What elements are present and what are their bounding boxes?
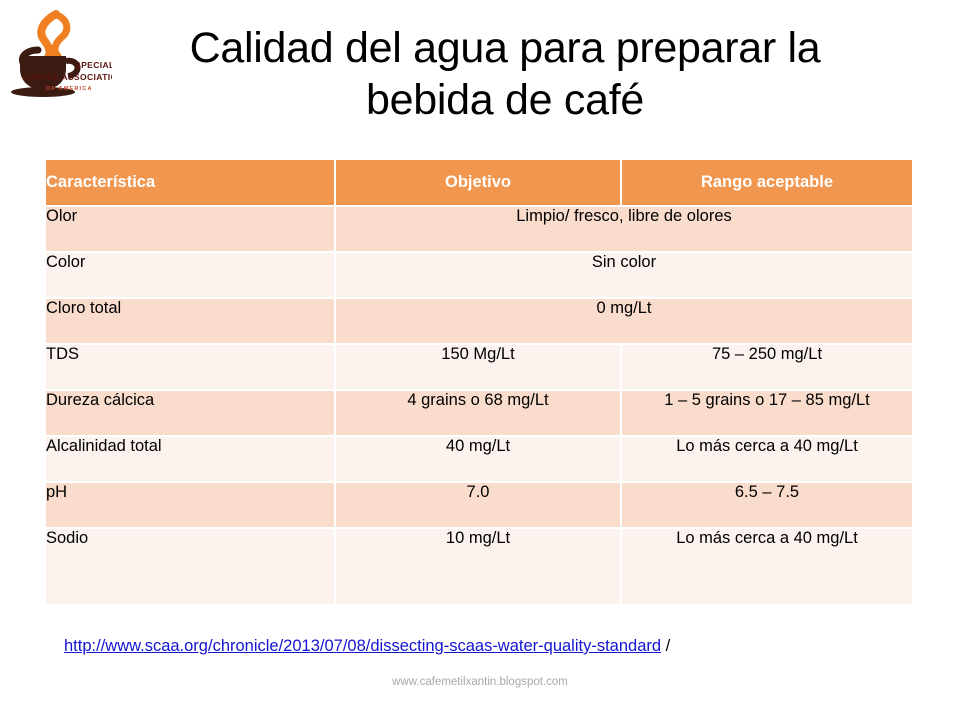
cell-valor-merged: Limpio/ fresco, libre de olores [336,207,912,253]
table-row: Alcalinidad total 40 mg/Lt Lo más cerca … [46,437,912,483]
cell-rango: Lo más cerca a 40 mg/Lt [622,529,912,606]
cell-objetivo: 10 mg/Lt [336,529,622,606]
page-title-line-2: bebida de café [110,74,900,126]
table-row: Cloro total 0 mg/Lt [46,299,912,345]
cell-rango: 1 – 5 grains o 17 – 85 mg/Lt [622,391,912,437]
source-line: http://www.scaa.org/chronicle/2013/07/08… [64,637,944,656]
table-row: pH 7.0 6.5 – 7.5 [46,483,912,529]
scaa-logo: SPECIALTY COFFEE ASSOCIATION OF AMERICA [8,6,112,106]
cell-valor-merged: Sin color [336,253,912,299]
cell-objetivo: 150 Mg/Lt [336,345,622,391]
cell-rango: Lo más cerca a 40 mg/Lt [622,437,912,483]
source-trailing-slash: / [661,637,670,655]
table-row: Sodio 10 mg/Lt Lo más cerca a 40 mg/Lt [46,529,912,606]
table-header-row: Característica Objetivo Rango aceptable [46,160,912,207]
column-header-objetivo: Objetivo [336,160,622,207]
cell-caracteristica: Sodio [46,529,336,606]
logo-text-association: COFFEE ASSOCIATION [22,72,112,82]
cell-objetivo: 7.0 [336,483,622,529]
cell-caracteristica: TDS [46,345,336,391]
cell-objetivo: 4 grains o 68 mg/Lt [336,391,622,437]
page-title: Calidad del agua para preparar la bebida… [110,22,900,126]
logo-text-of-america: OF AMERICA [46,86,93,92]
cell-caracteristica: Cloro total [46,299,336,345]
cell-rango: 6.5 – 7.5 [622,483,912,529]
column-header-rango-aceptable: Rango aceptable [622,160,912,207]
column-header-caracteristica: Característica [46,160,336,207]
water-quality-table: Característica Objetivo Rango aceptable … [46,160,912,606]
cell-caracteristica: Color [46,253,336,299]
footer-blog-url: www.cafemetilxantin.blogspot.com [0,676,960,688]
logo-text-specialty: SPECIALTY [75,60,112,70]
page-title-line-1: Calidad del agua para preparar la [110,22,900,74]
table-row: Color Sin color [46,253,912,299]
table-row: TDS 150 Mg/Lt 75 – 250 mg/Lt [46,345,912,391]
cell-valor-merged: 0 mg/Lt [336,299,912,345]
cell-objetivo: 40 mg/Lt [336,437,622,483]
cell-caracteristica: Alcalinidad total [46,437,336,483]
source-link[interactable]: http://www.scaa.org/chronicle/2013/07/08… [64,637,661,655]
table-row: Olor Limpio/ fresco, libre de olores [46,207,912,253]
cell-rango: 75 – 250 mg/Lt [622,345,912,391]
cell-caracteristica: Olor [46,207,336,253]
table-row: Dureza cálcica 4 grains o 68 mg/Lt 1 – 5… [46,391,912,437]
cell-caracteristica: Dureza cálcica [46,391,336,437]
cell-caracteristica: pH [46,483,336,529]
